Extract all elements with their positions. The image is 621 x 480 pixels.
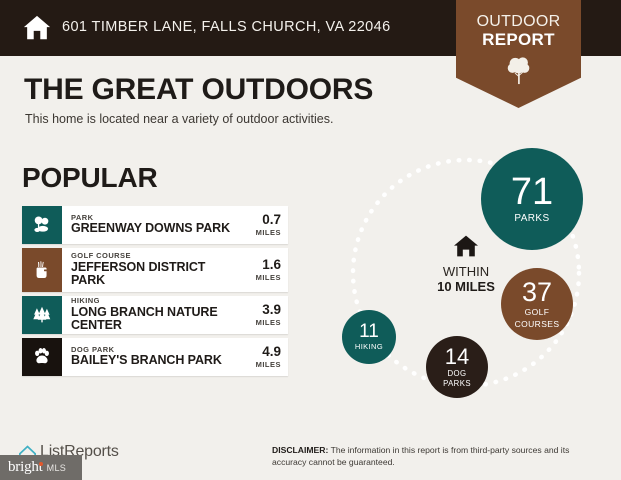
pine-trees-icon (22, 296, 62, 334)
distance-unit: MILES (256, 228, 281, 237)
bubble-hiking[interactable]: 11 HIKING (342, 310, 396, 364)
bright-mls-name: bright (8, 459, 43, 476)
list-item-text: HIKING LONG BRANCH NATURE CENTER (62, 296, 237, 334)
bubble-dog-value: 14 (445, 346, 469, 368)
within-10-miles-diagram: 71 PARKS 37 GOLF COURSES 14 DOG PARKS 11… (318, 138, 614, 423)
list-item-distance: 1.6 MILES (237, 248, 288, 292)
bubble-dog-label-line2: PARKS (443, 380, 471, 388)
bubble-dog-parks[interactable]: 14 DOG PARKS (426, 336, 488, 398)
list-item[interactable]: DOG PARK BAILEY'S BRANCH PARK 4.9 MILES (22, 338, 288, 376)
bubble-dog-label-line1: DOG (448, 370, 467, 378)
distance-unit: MILES (256, 318, 281, 327)
popular-section-heading: POPULAR (22, 162, 158, 194)
center-within-label: WITHIN (412, 265, 520, 280)
house-icon (453, 234, 479, 258)
disclaimer-label: DISCLAIMER: (272, 445, 328, 455)
bubble-parks-value: 71 (511, 173, 553, 211)
golf-bag-icon (22, 248, 62, 292)
list-item-name: JEFFERSON DISTRICT PARK (71, 261, 219, 288)
list-item-distance: 3.9 MILES (237, 296, 288, 334)
bright-mls-dot-icon (39, 462, 43, 466)
diagram-center-block: WITHIN 10 MILES (412, 234, 520, 295)
popular-places-list: PARK GREENWAY DOWNS PARK 0.7 MILES (22, 206, 288, 380)
bright-mls-suffix: MLS (47, 463, 66, 473)
list-item-text: PARK GREENWAY DOWNS PARK (62, 206, 237, 244)
bubble-parks-label: PARKS (514, 214, 549, 225)
banner-line-outdoor: OUTDOOR (456, 14, 581, 31)
list-item-name: GREENWAY DOWNS PARK (71, 222, 235, 236)
list-item-distance: 4.9 MILES (237, 338, 288, 376)
distance-unit: MILES (256, 360, 281, 369)
park-trees-icon (22, 206, 62, 244)
bubble-hiking-label: HIKING (355, 343, 383, 351)
distance-value: 3.9 (262, 303, 281, 317)
distance-unit: MILES (256, 273, 281, 282)
list-item[interactable]: HIKING LONG BRANCH NATURE CENTER 3.9 MIL… (22, 296, 288, 334)
bubble-hiking-value: 11 (359, 322, 379, 341)
bright-mls-badge[interactable]: bright MLS (0, 455, 82, 480)
tree-icon (506, 55, 532, 85)
list-item-name: LONG BRANCH NATURE CENTER (71, 306, 235, 333)
list-item-text: DOG PARK BAILEY'S BRANCH PARK (62, 338, 237, 376)
list-item-distance: 0.7 MILES (237, 206, 288, 244)
outdoor-report-infographic: 601 TIMBER LANE, FALLS CHURCH, VA 22046 … (0, 0, 621, 480)
paw-print-icon (22, 338, 62, 376)
disclaimer: DISCLAIMER: The information in this repo… (272, 444, 602, 468)
list-item[interactable]: PARK GREENWAY DOWNS PARK 0.7 MILES (22, 206, 288, 244)
bubble-golf-label-line1: GOLF (525, 308, 550, 317)
center-miles-label: 10 MILES (412, 280, 520, 295)
distance-value: 1.6 (262, 258, 281, 272)
distance-value: 0.7 (262, 213, 281, 227)
list-item-text: GOLF COURSE JEFFERSON DISTRICT PARK (62, 248, 237, 292)
bubble-golf-value: 37 (522, 279, 552, 306)
property-address: 601 TIMBER LANE, FALLS CHURCH, VA 22046 (62, 19, 391, 35)
page-subtitle: This home is located near a variety of o… (25, 112, 333, 126)
list-item[interactable]: GOLF COURSE JEFFERSON DISTRICT PARK 1.6 … (22, 248, 288, 292)
list-item-name: BAILEY'S BRANCH PARK (71, 354, 235, 368)
house-icon (22, 13, 52, 43)
banner-line-report: REPORT (456, 31, 581, 49)
outdoor-report-banner: OUTDOOR REPORT (456, 0, 581, 108)
page-title: THE GREAT OUTDOORS (24, 73, 373, 107)
distance-value: 4.9 (262, 345, 281, 359)
bubble-golf-label-line2: COURSES (515, 320, 560, 329)
